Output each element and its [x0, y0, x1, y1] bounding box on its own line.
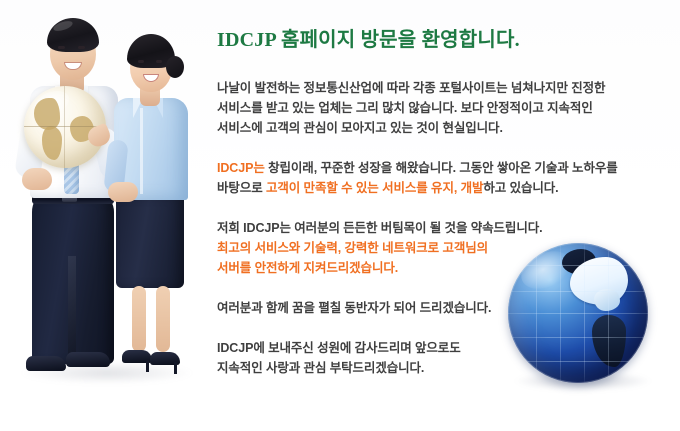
body-text: 창립이래, 꾸준한 성장을 해왔습니다. 그동안 쌓아온 기술과 노하우를: [265, 161, 618, 175]
woman-clasped-hands: [108, 182, 138, 202]
blue-globe-sphere: [508, 243, 648, 383]
woman-hair-bun: [166, 56, 184, 78]
man-shoe-right: [66, 352, 110, 367]
paragraph-line: IDCJP는 창립이래, 꾸준한 성장을 해왔습니다. 그동안 쌓아온 기술과 …: [217, 158, 667, 178]
paragraph-line: 저희 IDCJP는 여러분의 든든한 버팀목이 될 것을 약속드립니다.: [217, 218, 667, 238]
man-trousers: [32, 196, 114, 364]
globe-meridian-line: [64, 86, 65, 168]
body-text: 저희 IDCJP는 여러분의 든든한 버팀목이 될 것을 약속드립니다.: [217, 221, 543, 235]
woman-eye-left: [138, 60, 144, 63]
paragraph-growth: IDCJP는 창립이래, 꾸준한 성장을 해왔습니다. 그동안 쌓아온 기술과 …: [217, 158, 667, 198]
highlighted-text: 서버를 안전하게 지켜드리겠습니다.: [217, 261, 398, 275]
body-text: 서비스에 고객의 관심이 모아지고 있는 것이 현실입니다.: [217, 121, 503, 135]
blue-earth-globe-graphic: [508, 243, 660, 393]
man-shoe-left: [26, 356, 66, 371]
body-text: IDCJP에 보내주신 성원에 감사드리며 앞으로도: [217, 341, 461, 355]
woman-leg-right: [156, 286, 170, 352]
body-text: 여러분과 함께 꿈을 펼칠 동반자가 되어 드리겠습니다.: [217, 301, 491, 315]
woman-skirt: [116, 196, 184, 288]
woman-blouse-placket: [140, 108, 143, 194]
body-text: 나날이 발전하는 정보통신산업에 따라 각종 포털사이트는 넘쳐나지만 진정한: [217, 81, 605, 95]
man-hair: [47, 18, 99, 52]
body-text: 바탕으로: [217, 181, 266, 195]
paragraph-intro: 나날이 발전하는 정보통신산업에 따라 각종 포털사이트는 넘쳐나지만 진정한서…: [217, 78, 667, 138]
paragraph-line: 서비스에 고객의 관심이 모아지고 있는 것이 현실입니다.: [217, 118, 667, 138]
man-eye-right: [78, 46, 85, 49]
paragraph-line: 나날이 발전하는 정보통신산업에 따라 각종 포털사이트는 넘쳐나지만 진정한: [217, 78, 667, 98]
body-text: 서비스를 받고 있는 업체는 그리 많치 않습니다. 보다 안정적이고 지속적인: [217, 101, 593, 115]
highlighted-text: IDCJP는: [217, 161, 265, 175]
welcome-page: IDCJP 홈페이지 방문을 환영합니다. 나날이 발전하는 정보통신산업에 따…: [0, 0, 680, 431]
globe-landmass-b: [42, 126, 62, 160]
highlighted-text: 고객이 만족할 수 있는 서비스를 유지, 개발: [266, 181, 483, 195]
man-eye-left: [58, 46, 65, 49]
two-business-people-photo: [0, 0, 212, 390]
page-title: IDCJP 홈페이지 방문을 환영합니다.: [217, 28, 667, 52]
highlighted-text: 최고의 서비스와 기술력, 강력한 네트워크로 고객님의: [217, 241, 488, 255]
woman-eye-right: [156, 60, 162, 63]
paragraph-line: 서비스를 받고 있는 업체는 그리 많치 않습니다. 보다 안정적이고 지속적인: [217, 98, 667, 118]
woman-heel-left: [146, 360, 149, 372]
woman-leg-left: [132, 286, 146, 352]
man-hand-holding-globe: [22, 168, 52, 190]
blue-globe-rim: [508, 243, 648, 383]
woman-heel-right: [174, 362, 177, 374]
paragraph-line: 바탕으로 고객이 만족할 수 있는 서비스를 유지, 개발하고 있습니다.: [217, 178, 667, 198]
body-text: 지속적인 사랑과 관심 부탁드리겠습니다.: [217, 361, 424, 375]
body-text: 하고 있습니다.: [483, 181, 558, 195]
